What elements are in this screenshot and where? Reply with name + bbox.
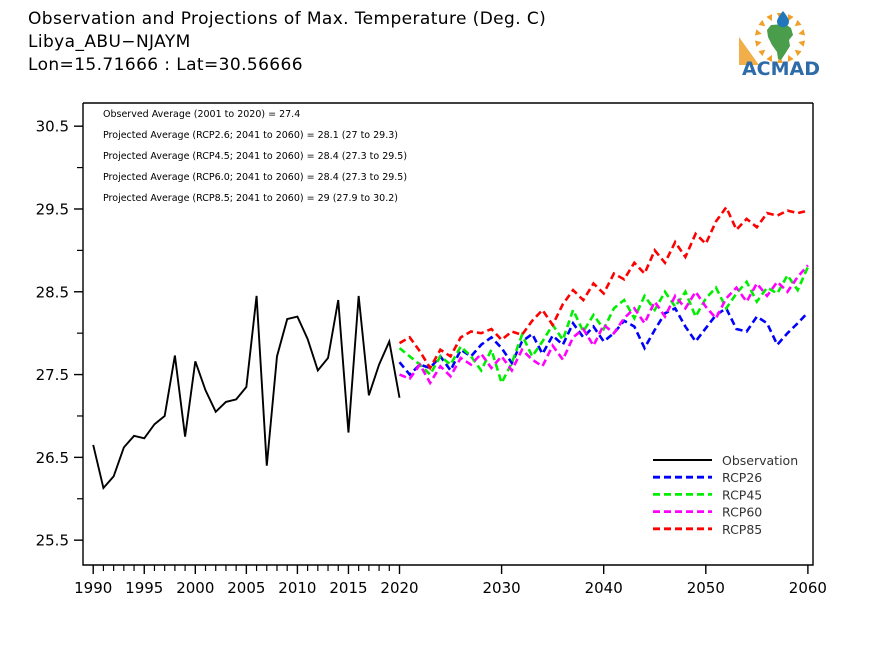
y-tick-label: 29.5 (36, 200, 69, 218)
y-tick-label: 30.5 (36, 118, 69, 136)
series-line-observation (93, 296, 399, 488)
legend-label-rcp85: RCP85 (722, 522, 762, 537)
x-tick-label: 2015 (329, 579, 367, 597)
chart-page: Observation and Projections of Max. Temp… (0, 0, 879, 659)
y-tick-label: 28.5 (36, 283, 69, 301)
x-tick-label: 2040 (585, 579, 623, 597)
annotation-line: Observed Average (2001 to 2020) = 27.4 (103, 109, 300, 120)
legend-label-rcp45: RCP45 (722, 487, 762, 502)
series-line-rcp26 (400, 308, 808, 374)
x-tick-label: 1990 (74, 579, 112, 597)
legend-label-rcp60: RCP60 (722, 505, 762, 520)
x-tick-label: 2030 (483, 579, 521, 597)
chart-series (93, 207, 808, 488)
annotation-line: Projected Average (RCP6.0; 2041 to 2060)… (103, 172, 407, 183)
annotation-line: Projected Average (RCP8.5; 2041 to 2060)… (103, 193, 398, 204)
x-tick-label: 2005 (227, 579, 265, 597)
y-tick-label: 27.5 (36, 366, 69, 384)
x-tick-label: 2010 (278, 579, 316, 597)
x-tick-label: 2000 (176, 579, 214, 597)
y-tick-label: 26.5 (36, 449, 69, 467)
series-line-rcp85 (400, 207, 808, 368)
y-tick-label: 25.5 (36, 532, 69, 550)
legend-label-observation: Observation (722, 453, 798, 468)
annotation-block: Observed Average (2001 to 2020) = 27.4Pr… (103, 109, 407, 204)
series-line-rcp45 (400, 267, 808, 383)
x-tick-label: 2050 (687, 579, 725, 597)
x-tick-label: 2020 (380, 579, 418, 597)
annotation-line: Projected Average (RCP4.5; 2041 to 2060)… (103, 151, 407, 162)
annotation-line: Projected Average (RCP2.6; 2041 to 2060)… (103, 130, 398, 141)
x-tick-label: 2060 (789, 579, 827, 597)
x-tick-label: 1995 (125, 579, 163, 597)
chart-legend: ObservationRCP26RCP45RCP60RCP85 (653, 453, 798, 537)
temperature-chart: Observed Average (2001 to 2020) = 27.4Pr… (0, 0, 879, 659)
legend-label-rcp26: RCP26 (722, 470, 762, 485)
